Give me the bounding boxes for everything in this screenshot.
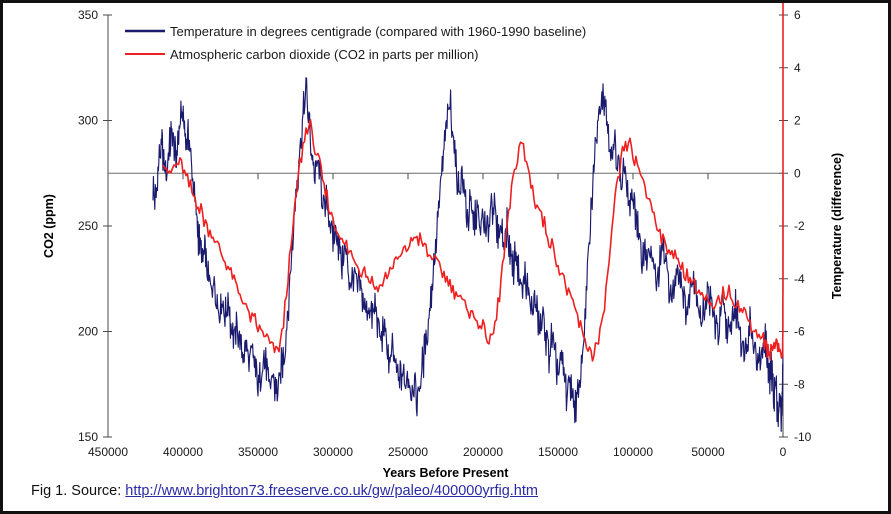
y2-tick-label: 6: [794, 8, 801, 22]
x-tick-label: 350000: [238, 445, 278, 459]
y2-tick-label: -6: [794, 325, 805, 339]
y2-tick-label: 0: [794, 166, 801, 180]
chart-figure: 150200250300350CO2 (ppm)-10-8-6-4-20246T…: [3, 3, 888, 511]
series-temperature: [153, 78, 783, 432]
y2-tick-label: 2: [794, 114, 801, 128]
figure-border: 150200250300350CO2 (ppm)-10-8-6-4-20246T…: [0, 0, 891, 514]
y-tick-label: 150: [78, 430, 98, 444]
y2-axis-title: Temperature (difference): [830, 153, 844, 299]
caption-prefix: Fig 1. Source:: [31, 483, 121, 499]
figure-caption: Fig 1. Source: http://www.brighton73.fre…: [31, 483, 538, 499]
x-tick-label: 300000: [313, 445, 353, 459]
x-tick-label: 450000: [88, 445, 128, 459]
y2-tick-label: -4: [794, 272, 805, 286]
y2-tick-label: -10: [794, 430, 812, 444]
x-tick-label: 0: [780, 445, 787, 459]
x-axis-title: Years Before Present: [383, 466, 510, 478]
x-tick-label: 400000: [163, 445, 203, 459]
y-tick-label: 350: [78, 8, 98, 22]
y2-tick-label: -8: [794, 377, 805, 391]
paleoclimate-chart: 150200250300350CO2 (ppm)-10-8-6-4-20246T…: [3, 3, 888, 478]
y-tick-label: 250: [78, 219, 98, 233]
y-axis-title: CO2 (ppm): [42, 194, 56, 258]
y-tick-label: 200: [78, 325, 98, 339]
y2-tick-label: -2: [794, 219, 805, 233]
y2-tick-label: 4: [794, 61, 801, 75]
legend-label-co2: Atmospheric carbon dioxide (CO2 in parts…: [170, 47, 479, 62]
legend-label-temperature: Temperature in degrees centigrade (compa…: [170, 24, 586, 39]
x-tick-label: 100000: [613, 445, 653, 459]
x-tick-label: 50000: [691, 445, 725, 459]
source-link[interactable]: http://www.brighton73.freeserve.co.uk/gw…: [125, 483, 538, 499]
x-tick-label: 150000: [538, 445, 578, 459]
x-tick-label: 250000: [388, 445, 428, 459]
y-tick-label: 300: [78, 114, 98, 128]
x-tick-label: 200000: [463, 445, 503, 459]
